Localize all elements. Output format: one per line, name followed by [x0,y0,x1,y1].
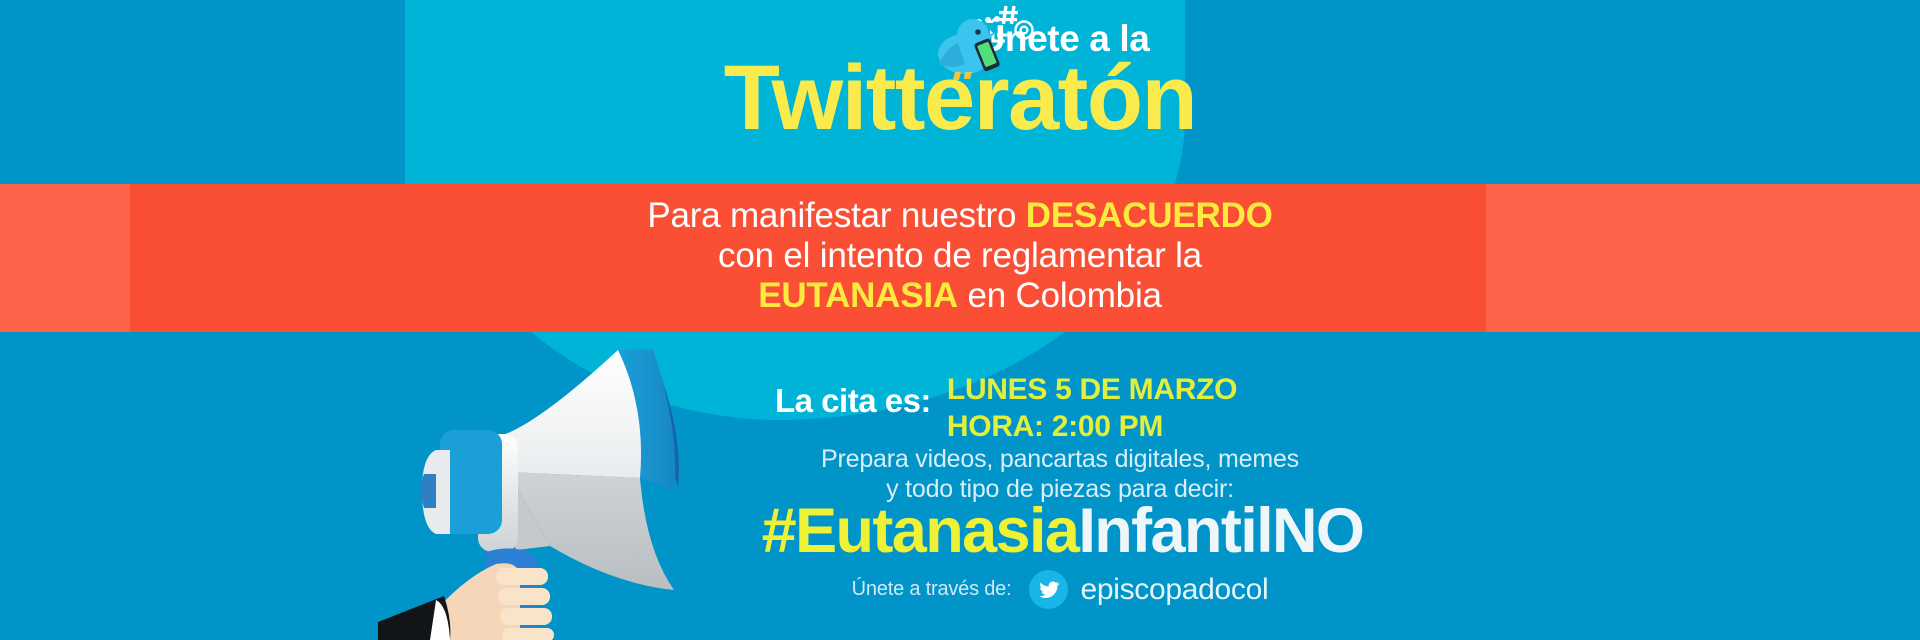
message-line-3-plain: en Colombia [958,276,1162,315]
message-highlight-desacuerdo: DESACUERDO [1026,196,1273,235]
appointment-label: La cita es: [775,382,931,420]
instructions-text: Prepara videos, pancartas digitales, mem… [0,444,1920,504]
message-line-1-plain: Para manifestar nuestro [647,196,1025,235]
message-line-3: EUTANASIA en Colombia [0,276,1920,316]
details-section: La cita es: LUNES 5 DE MARZO HORA: 2:00 … [0,332,1920,640]
twitter-bird-icon[interactable] [1029,570,1068,609]
appointment-time: HORA: 2:00 PM [947,409,1237,446]
message-line-2: con el intento de reglamentar la [0,236,1920,276]
instructions-line-1: Prepara videos, pancartas digitales, mem… [200,444,1920,474]
message-highlight-eutanasia: EUTANASIA [758,276,958,315]
appointment-values: LUNES 5 DE MARZO HORA: 2:00 PM [947,372,1237,445]
hashtag-suffix: InfantilNO [1078,496,1363,566]
header-section: Únete a la Twitteratón [0,0,1920,184]
message-line-1: Para manifestar nuestro DESACUERDO [0,196,1920,236]
page-title: Twitteratón [0,52,1920,144]
footer-row: Únete a través de: episcopadocol [0,570,1920,609]
footer-label: Únete a través de: [852,578,1012,601]
appointment-row: La cita es: LUNES 5 DE MARZO HORA: 2:00 … [775,372,1237,445]
campaign-hashtag[interactable]: #EutanasiaInfantilNO [0,500,1920,563]
twitter-handle[interactable]: episcopadocol [1080,573,1268,607]
hashtag-prefix: #Eutanasia [762,496,1079,566]
message-text: Para manifestar nuestro DESACUERDO con e… [0,196,1920,316]
appointment-date: LUNES 5 DE MARZO [947,372,1237,409]
promo-banner: Únete a la Twitteratón [0,0,1920,640]
